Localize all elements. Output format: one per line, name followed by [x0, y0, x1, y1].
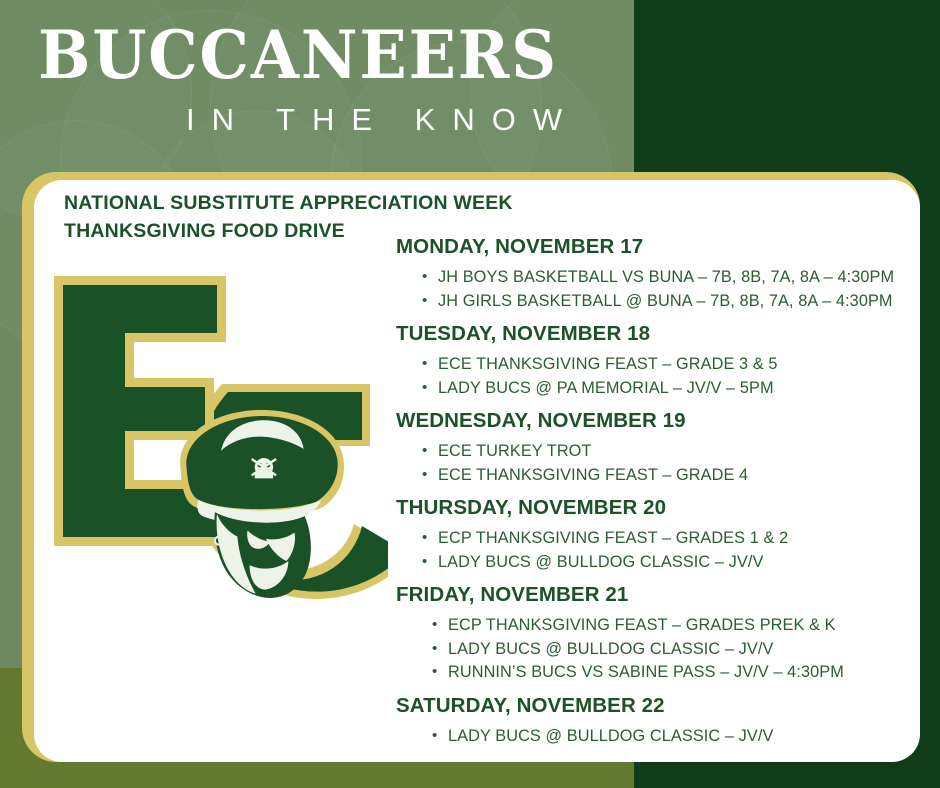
event-item: ECP THANKSGIVING FEAST – GRADES PREK & K [432, 614, 914, 638]
day-block-friday: FRIDAY, NOVEMBER 21 ECP THANKSGIVING FEA… [396, 580, 914, 685]
event-list: JH BOYS BASKETBALL VS BUNA – 7B, 8B, 7A,… [396, 266, 914, 313]
event-item: ECP THANKSGIVING FEAST – GRADES 1 & 2 [422, 527, 914, 551]
day-block-monday: MONDAY, NOVEMBER 17 JH BOYS BASKETBALL V… [396, 232, 914, 313]
day-heading: WEDNESDAY, NOVEMBER 19 [396, 406, 914, 436]
event-list: LADY BUCS @ BULLDOG CLASSIC – JV/V [396, 725, 914, 749]
event-item: RUNNIN’S BUCS VS SABINE PASS – JV/V – 4:… [432, 661, 914, 685]
day-heading: MONDAY, NOVEMBER 17 [396, 232, 914, 262]
day-heading: FRIDAY, NOVEMBER 21 [396, 580, 914, 610]
day-block-wednesday: WEDNESDAY, NOVEMBER 19 ECE TURKEY TROT E… [396, 406, 914, 487]
weekly-schedule: MONDAY, NOVEMBER 17 JH BOYS BASKETBALL V… [396, 226, 914, 754]
event-list: ECE TURKEY TROT ECE THANKSGIVING FEAST –… [396, 440, 914, 487]
day-heading: THURSDAY, NOVEMBER 20 [396, 493, 914, 523]
event-item: JH GIRLS BASKETBALL @ BUNA – 7B, 8B, 7A,… [422, 290, 914, 314]
skull-badge [252, 458, 276, 478]
day-heading: SATURDAY, NOVEMBER 22 [396, 691, 914, 721]
poster-subtitle: IN THE KNOW [186, 104, 579, 135]
day-block-saturday: SATURDAY, NOVEMBER 22 LADY BUCS @ BULLDO… [396, 691, 914, 749]
event-item: LADY BUCS @ BULLDOG CLASSIC – JV/V [422, 551, 914, 575]
ec-buccaneers-logo [40, 256, 388, 626]
event-item: ECE THANKSGIVING FEAST – GRADE 3 & 5 [422, 353, 914, 377]
event-list: ECE THANKSGIVING FEAST – GRADE 3 & 5 LAD… [396, 353, 914, 400]
poster-header: BUCCANEERS IN THE KNOW [0, 0, 940, 172]
event-item: LADY BUCS @ BULLDOG CLASSIC – JV/V [432, 725, 914, 749]
day-block-tuesday: TUESDAY, NOVEMBER 18 ECE THANKSGIVING FE… [396, 319, 914, 400]
event-item: LADY BUCS @ PA MEMORIAL – JV/V – 5PM [422, 377, 914, 401]
poster-canvas: BUCCANEERS IN THE KNOW NATIONAL SUBSTITU… [0, 0, 940, 788]
event-item: LADY BUCS @ BULLDOG CLASSIC – JV/V [432, 638, 914, 662]
day-heading: TUESDAY, NOVEMBER 18 [396, 319, 914, 349]
event-item: ECE THANKSGIVING FEAST – GRADE 4 [422, 464, 914, 488]
event-list: ECP THANKSGIVING FEAST – GRADES 1 & 2 LA… [396, 527, 914, 574]
day-block-thursday: THURSDAY, NOVEMBER 20 ECP THANKSGIVING F… [396, 493, 914, 574]
event-item: JH BOYS BASKETBALL VS BUNA – 7B, 8B, 7A,… [422, 266, 914, 290]
event-list: ECP THANKSGIVING FEAST – GRADES PREK & K… [396, 614, 914, 685]
content-card: NATIONAL SUBSTITUTE APPRECIATION WEEK TH… [34, 180, 920, 762]
announcement-line-1: NATIONAL SUBSTITUTE APPRECIATION WEEK [64, 189, 513, 217]
event-item: ECE TURKEY TROT [422, 440, 914, 464]
poster-title: BUCCANEERS [38, 22, 558, 88]
